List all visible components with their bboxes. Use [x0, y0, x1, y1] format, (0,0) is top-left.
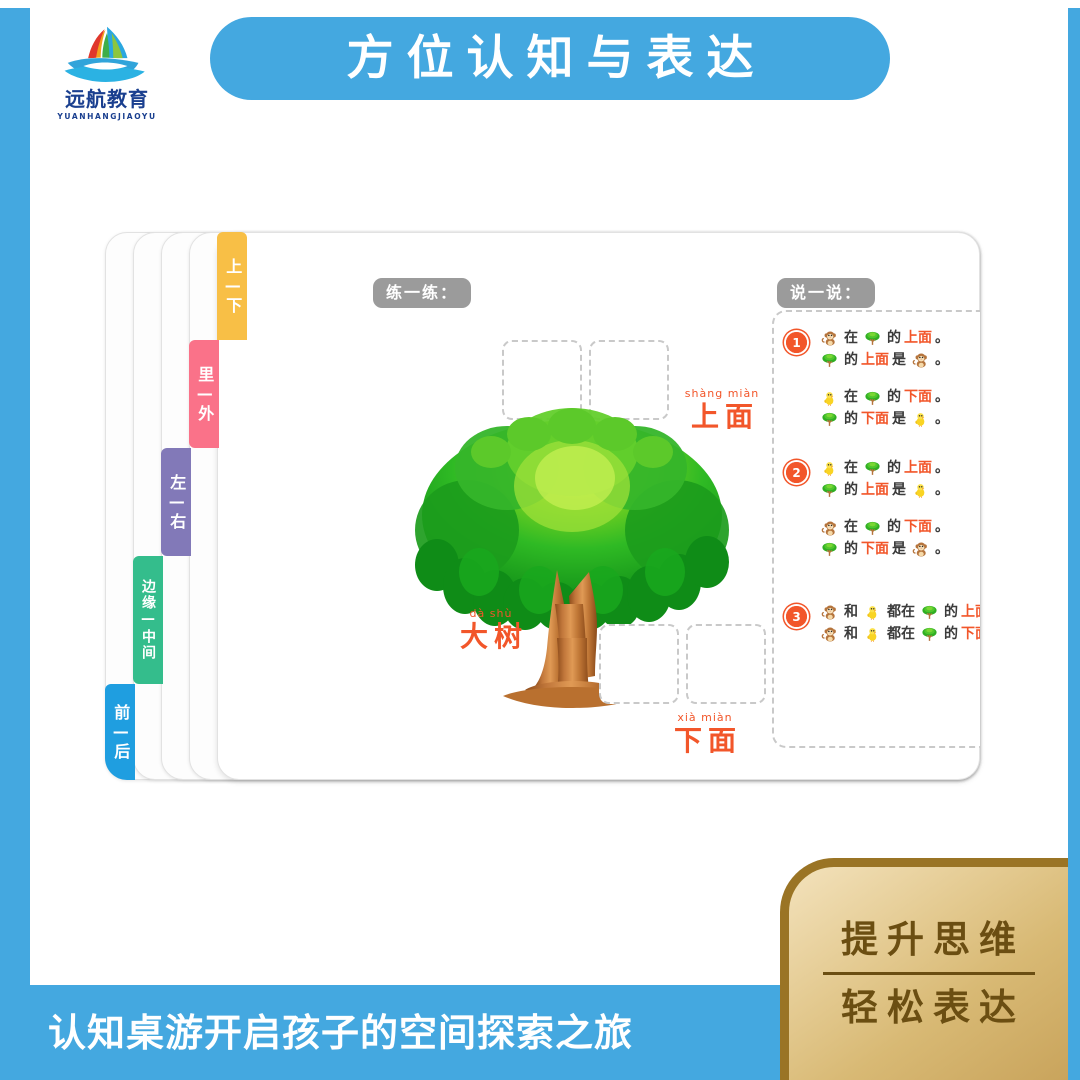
sentence-text: 都在	[887, 602, 915, 624]
tab-label: 里—外	[195, 366, 213, 423]
sentence-group: 在的下面。的下面是。	[818, 517, 980, 560]
keyword: 上面	[904, 328, 932, 350]
tree-icon	[864, 390, 881, 407]
practice-section-label: 练一练：	[373, 278, 471, 308]
sentence-line: 的上面是。	[818, 350, 980, 372]
sentence-text: 的	[887, 387, 901, 409]
speak-area: 1 在的上面。的上面是。在的下面。的下面是。 2 在的上面。的上面是。在的下面。…	[772, 310, 950, 750]
item-lines: 在的上面。的上面是。在的下面。的下面是。	[818, 458, 980, 561]
keyword: 下面	[904, 517, 932, 539]
answer-blank-box[interactable]	[686, 624, 766, 704]
sentence-line: 在的上面。	[818, 328, 980, 350]
hanzi-text: 大树	[443, 623, 539, 651]
monkey-icon	[821, 604, 838, 621]
page-border-left	[0, 0, 30, 1080]
sentence-line: 和都在的上面。	[818, 602, 980, 624]
sentence-text: 是	[892, 480, 906, 502]
monkey-icon	[821, 330, 838, 347]
page-title: 方位认知与表达	[334, 35, 767, 82]
chick-icon	[864, 604, 881, 621]
sentence-text: 的	[887, 458, 901, 480]
keyword: 下面	[961, 624, 980, 646]
sentence-text: 和	[844, 602, 858, 624]
sentence-group: 和都在的上面。和都在的下面。	[818, 602, 980, 645]
sentence-text: 在	[844, 517, 858, 539]
sentence-text: 在	[844, 328, 858, 350]
sentence-line: 的上面是。	[818, 480, 980, 502]
tree-icon	[821, 352, 838, 369]
keyword: 上面	[961, 602, 980, 624]
sentence-text: 。	[935, 350, 949, 372]
sentence-text: 。	[935, 458, 949, 480]
sentence-text: 。	[935, 539, 949, 561]
worksheet-card-deck: 前—后 边缘—中间 左—右 里—外 上—下 练一练： 说一说：	[105, 232, 980, 780]
tree-icon	[864, 330, 881, 347]
brand-pinyin: YUANHANGJIAOYU	[57, 112, 156, 121]
worksheet-page: 练一练： 说一说：	[217, 232, 980, 780]
keyword: 下面	[861, 409, 889, 431]
sentence-text: 的	[844, 409, 858, 431]
sentence-text: 的	[844, 539, 858, 561]
keyword: 上面	[904, 458, 932, 480]
item-lines: 在的上面。的上面是。在的下面。的下面是。	[818, 328, 980, 431]
footer-tagline-text: 认知桌游开启孩子的空间探索之旅	[48, 1014, 633, 1052]
monkey-icon	[912, 541, 929, 558]
sentence-text: 。	[935, 409, 949, 431]
hanzi-text: 上面	[667, 403, 777, 431]
monkey-icon	[821, 626, 838, 643]
sentence-text: 的	[887, 517, 901, 539]
word-card-shangmian: shàng miàn 上面	[667, 388, 777, 431]
sentence-line: 的下面是。	[818, 539, 980, 561]
sentence-group: 在的上面。的上面是。	[818, 458, 980, 501]
item-lines: 和都在的上面。和都在的下面。	[818, 602, 980, 645]
item-number: 3	[786, 606, 807, 627]
sentence-text: 的	[887, 328, 901, 350]
sailboat-waves-logo-icon	[59, 22, 155, 88]
keyword: 上面	[861, 480, 889, 502]
sidebar-item-zuo-you[interactable]: 左—右	[161, 448, 191, 556]
sentence-text: 是	[892, 539, 906, 561]
sidebar-item-bianyuan-zhongjian[interactable]: 边缘—中间	[133, 556, 163, 684]
tree-icon	[821, 411, 838, 428]
sentence-text: 。	[935, 328, 949, 350]
sentence-text: 在	[844, 458, 858, 480]
sentence-text: 。	[935, 517, 949, 539]
tab-label: 边缘—中间	[140, 579, 156, 661]
sentence-line: 在的下面。	[818, 387, 980, 409]
pinyin-text: xià miàn	[657, 712, 753, 723]
sentence-text: 。	[935, 387, 949, 409]
tree-icon	[821, 541, 838, 558]
sidebar-item-qian-hou[interactable]: 前—后	[105, 684, 135, 780]
badge-line-1: 提升思维	[832, 907, 1025, 972]
chick-icon	[821, 390, 838, 407]
tree-icon	[864, 460, 881, 477]
tab-label: 前—后	[111, 704, 129, 761]
item-number: 1	[786, 332, 807, 353]
sentence-text: 和	[844, 624, 858, 646]
word-card-xiamian: xià miàn 下面	[657, 712, 753, 755]
sentence-text: 是	[892, 350, 906, 372]
sentence-group: 在的下面。的下面是。	[818, 387, 980, 430]
sentence-group: 在的上面。的上面是。	[818, 328, 980, 371]
sentence-line: 在的下面。	[818, 517, 980, 539]
brand-name: 远航教育	[65, 89, 149, 109]
sentence-text: 的	[844, 480, 858, 502]
sentence-text: 的	[944, 602, 958, 624]
sentence-line: 和都在的下面。	[818, 624, 980, 646]
chick-icon	[912, 411, 929, 428]
keyword: 下面	[904, 387, 932, 409]
answer-blank-box[interactable]	[599, 624, 679, 704]
title-banner: 方位认知与表达	[210, 17, 890, 100]
monkey-icon	[912, 352, 929, 369]
tree-icon	[864, 520, 881, 537]
chick-icon	[864, 626, 881, 643]
tree-icon	[921, 604, 938, 621]
sidebar-item-li-wai[interactable]: 里—外	[189, 340, 219, 448]
hanzi-text: 下面	[657, 727, 753, 755]
sentence-line: 在的上面。	[818, 458, 980, 480]
footer-badge: 提升思维 轻松表达	[780, 858, 1068, 1080]
tree-icon	[921, 626, 938, 643]
tree-icon	[821, 482, 838, 499]
item-number: 2	[786, 462, 807, 483]
chick-icon	[912, 482, 929, 499]
pinyin-text: dà shù	[443, 608, 539, 619]
sentence-line: 的下面是。	[818, 409, 980, 431]
monkey-icon	[821, 520, 838, 537]
speak-item: 2 在的上面。的上面是。在的下面。的下面是。	[786, 458, 980, 577]
header: 远航教育 YUANHANGJIAOYU 方位认知与表达	[30, 0, 1068, 140]
sentence-text: 在	[844, 387, 858, 409]
brand-logo: 远航教育 YUANHANGJIAOYU	[48, 22, 166, 132]
pinyin-text: shàng miàn	[667, 388, 777, 399]
keyword: 下面	[861, 539, 889, 561]
sentence-text: 是	[892, 409, 906, 431]
practice-area: shàng miàn 上面 dà shù 大树 xià miàn 下面	[247, 312, 687, 762]
speak-item: 1 在的上面。的上面是。在的下面。的下面是。	[786, 328, 980, 447]
chick-icon	[821, 460, 838, 477]
speak-section-label: 说一说：	[777, 278, 875, 308]
keyword: 上面	[861, 350, 889, 372]
speak-item: 3 和都在的上面。和都在的下面。	[786, 602, 980, 661]
page-border-right	[1068, 0, 1080, 1080]
sentence-text: 。	[935, 480, 949, 502]
sentence-text: 的	[944, 624, 958, 646]
sentence-text: 都在	[887, 624, 915, 646]
tab-label: 左—右	[167, 474, 185, 531]
word-card-dashu: dà shù 大树	[443, 608, 539, 651]
badge-line-2: 轻松表达	[832, 975, 1025, 1040]
sentence-text: 的	[844, 350, 858, 372]
